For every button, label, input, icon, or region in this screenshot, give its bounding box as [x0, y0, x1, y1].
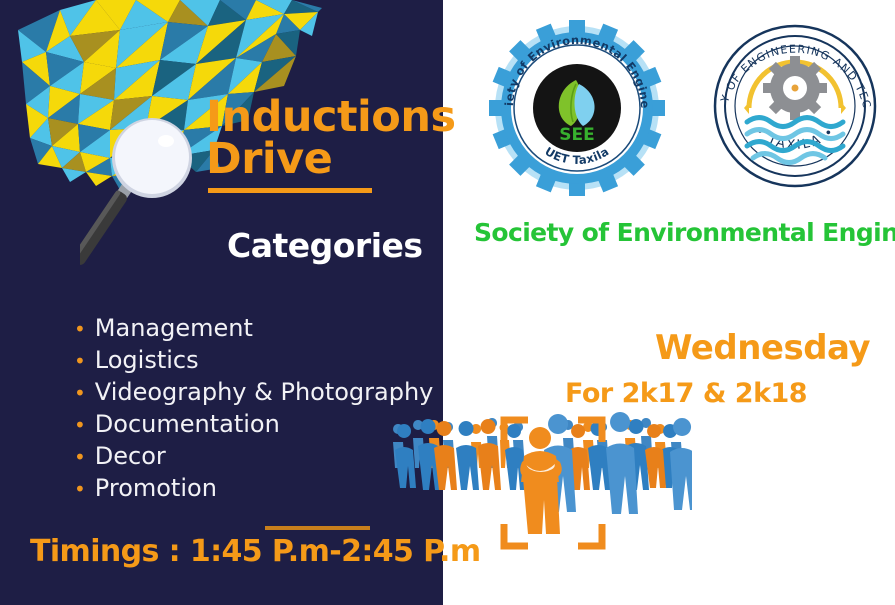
weekday-text: Wednesday — [655, 328, 870, 368]
list-item: • Logistics — [74, 345, 454, 377]
bullet-icon: • — [74, 474, 86, 505]
list-item: • Management — [74, 313, 454, 345]
society-name: Society of Environmental Engineers — [474, 218, 894, 247]
list-item-label: Promotion — [95, 473, 217, 504]
bullet-icon: • — [74, 378, 86, 409]
title-block: Inductions Drive — [206, 96, 466, 193]
list-item-label: Management — [95, 313, 253, 344]
crowd-silhouette-with-focus-brackets — [392, 412, 692, 552]
magnifying-glass-icon — [80, 110, 220, 290]
list-item: • Videography & Photography — [74, 377, 454, 409]
poster-canvas: Inductions Drive Categories • Management… — [0, 0, 895, 605]
timings-divider — [265, 526, 370, 530]
bullet-icon: • — [74, 346, 86, 377]
bullet-icon: • — [74, 410, 86, 441]
page-title-line2: Drive — [206, 138, 466, 180]
categories-heading: Categories — [227, 226, 423, 265]
bullet-icon: • — [74, 314, 86, 345]
uet-logo: UNIVERSITY OF ENGINEERING AND TECHNOLOGY… — [705, 12, 885, 197]
bullet-icon: • — [74, 442, 86, 473]
list-item-label: Logistics — [95, 345, 199, 376]
list-item-label: Videography & Photography — [95, 377, 434, 408]
list-item-label: Documentation — [95, 409, 280, 440]
audience-text: For 2k17 & 2k18 — [565, 378, 807, 409]
see-center-text: SEE — [559, 125, 594, 145]
featured-person — [520, 427, 562, 534]
list-item-label: Decor — [95, 441, 166, 472]
see-logo: Society of Environmental Engineers UET T… — [487, 18, 667, 198]
title-underline — [208, 188, 372, 193]
page-title-line1: Inductions — [206, 96, 466, 138]
